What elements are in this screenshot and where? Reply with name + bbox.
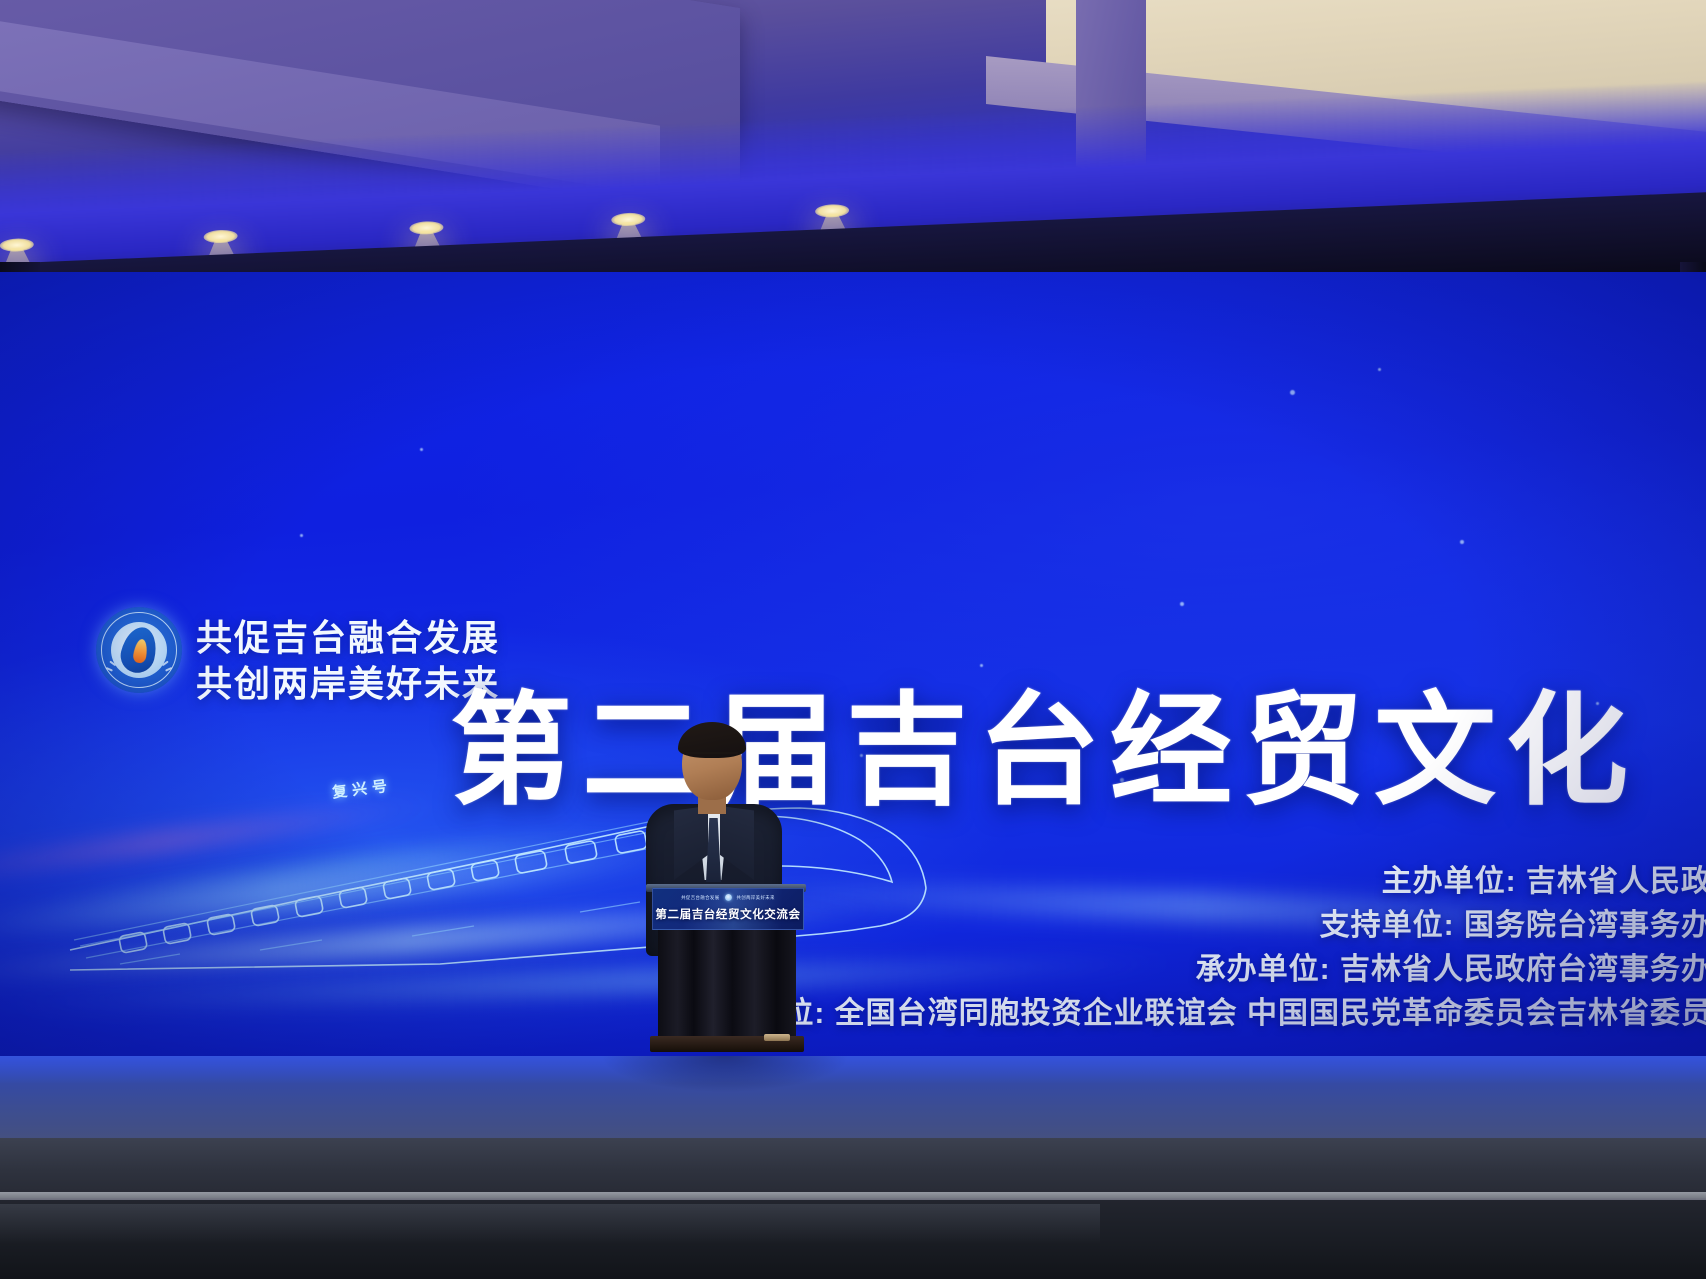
sparkle-dot — [420, 448, 423, 451]
organizer-line-host: 主办单位: 吉林省人民政 — [690, 860, 1706, 904]
podium-base-highlight — [764, 1034, 790, 1041]
organizer-line-support: 支持单位: 国务院台湾事务办 — [690, 904, 1706, 948]
led-backdrop-screen: 复兴号 共 — [0, 272, 1706, 1062]
podium-column — [658, 928, 796, 1040]
organizer-list: 主办单位: 吉林省人民政 支持单位: 国务院台湾事务办 承办单位: 吉林省人民政… — [690, 860, 1706, 1036]
downlight-icon — [203, 229, 238, 243]
podium-sign-slogan-right: 共创两岸美好未来 — [737, 895, 775, 901]
podium-front-sign: 共促吉台融合发展 共创两岸美好未来 第二届吉台经贸文化交流会 — [652, 888, 804, 930]
organizer-line-undertaker: 承办单位: 吉林省人民政府台湾事务办 — [690, 948, 1706, 992]
slogan-line-1: 共促吉台融合发展 — [196, 615, 500, 661]
stage-front-sheen — [0, 1204, 1100, 1244]
organizer-line-coorganizer: 协办单位: 全国台湾同胞投资企业联谊会 中国国民党革命委员会吉林省委员 — [690, 992, 1706, 1036]
downlight-icon — [611, 212, 646, 226]
light-streak — [41, 817, 678, 911]
podium-sign-title: 第二届吉台经贸文化交流会 — [653, 906, 803, 922]
ceiling — [0, 0, 1706, 300]
conference-stage-photo: 复兴号 共 — [0, 0, 1706, 1279]
stage-step-riser — [0, 1138, 1706, 1198]
light-streak — [0, 793, 439, 891]
sparkle-dot — [300, 534, 303, 537]
sparkle-dot — [1290, 390, 1295, 395]
downlight-icon — [0, 238, 34, 252]
sparkle-dot — [1378, 368, 1381, 371]
podium-sign-slogan-left: 共促吉台融合发展 — [681, 895, 719, 901]
downlight-icon — [409, 221, 444, 235]
sparkle-dot — [980, 664, 983, 667]
podium-lectern: 共促吉台融合发展 共创两岸美好未来 第二届吉台经贸文化交流会 — [646, 884, 806, 1052]
downlight-icon — [815, 204, 850, 218]
sparkle-dot — [1460, 540, 1464, 544]
podium-floor-shadow — [560, 1056, 890, 1136]
sparkle-dot — [1180, 602, 1184, 606]
event-main-title: 第二届吉台经贸文化 — [450, 690, 1638, 812]
podium-sign-top-row: 共促吉台融合发展 共创两岸美好未来 — [653, 894, 803, 901]
podium-emblem-icon — [725, 894, 732, 901]
train-label: 复兴号 — [331, 774, 393, 802]
light-streak — [0, 832, 700, 947]
speaker-glasses-icon — [686, 752, 738, 766]
conference-emblem-icon — [96, 607, 182, 693]
